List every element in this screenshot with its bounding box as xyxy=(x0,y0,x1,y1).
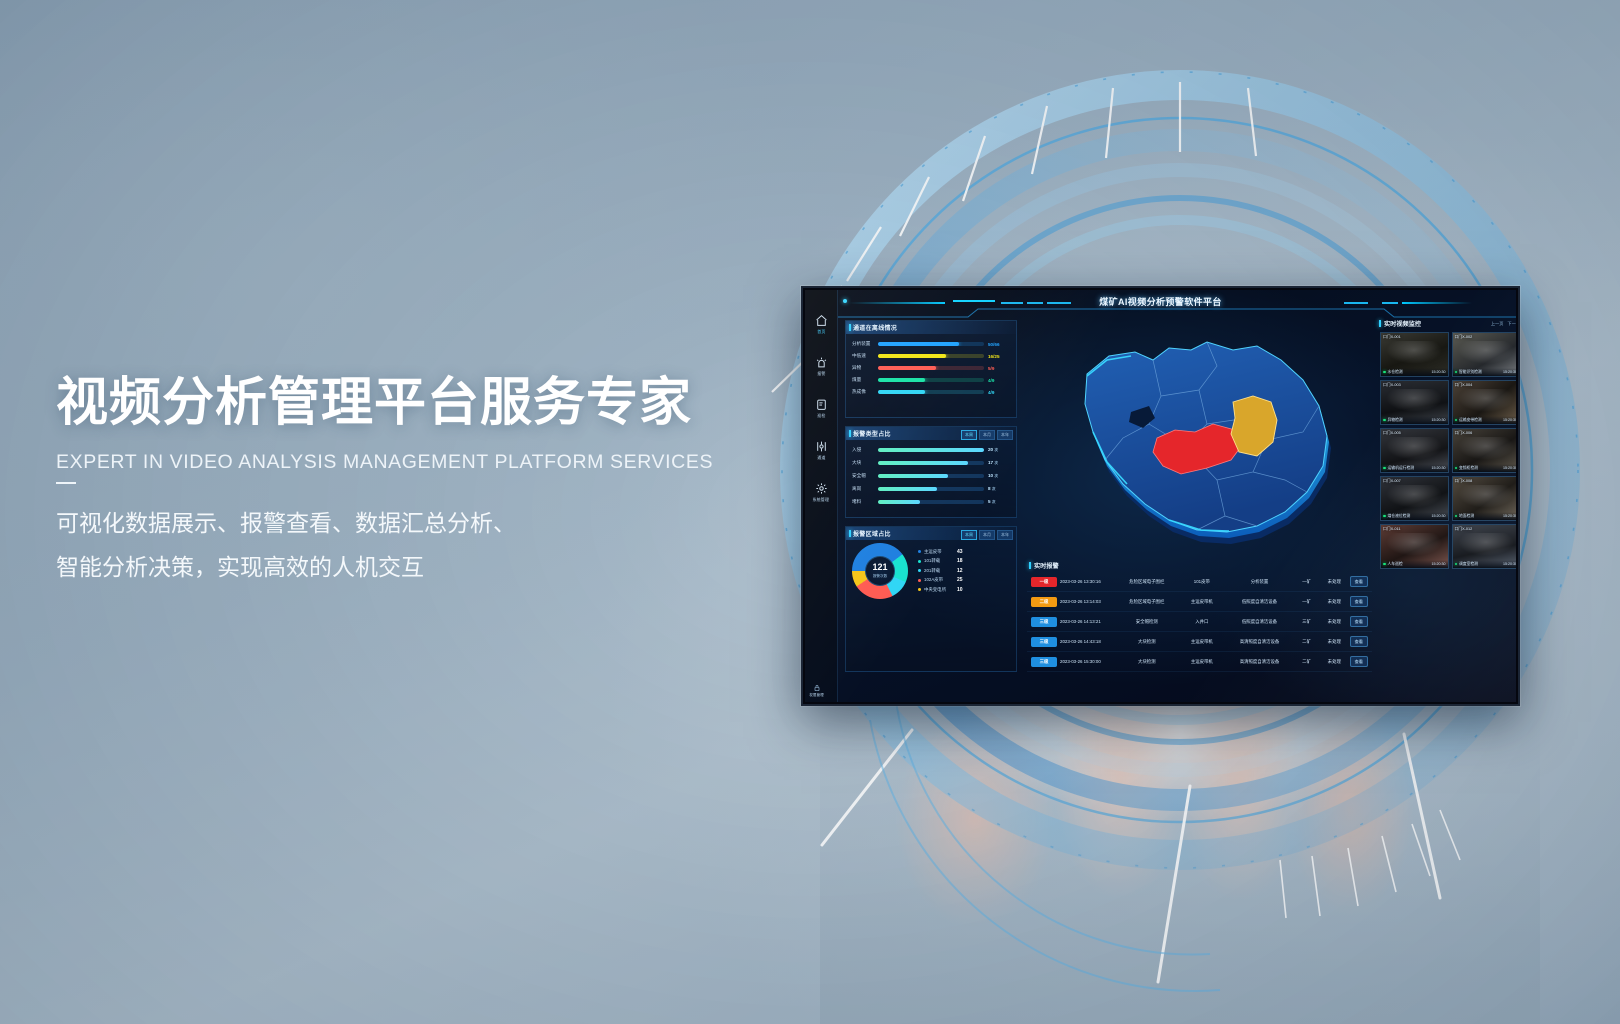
alarm-type-row-value: 5 次 xyxy=(988,499,1010,505)
alarm-type-row-label: 堵料 xyxy=(852,499,874,505)
alarm-mine: 三矿 xyxy=(1294,619,1319,625)
legend-label: 主运皮带 xyxy=(924,549,954,555)
sidebar-item-system-label: 系统管理 xyxy=(813,497,830,503)
alarm-type-row-label: 大块 xyxy=(852,460,874,466)
header-dash-3 xyxy=(1027,302,1043,304)
video-footer: 调度室检测15:20:30 xyxy=(1453,560,1517,568)
alarm-mine: 二矿 xyxy=(1294,639,1319,645)
status-badge: 三级 xyxy=(1031,637,1057,647)
alarm-area-donut-chart: 121 报警次数 xyxy=(852,543,908,599)
live-video-panel: 实时视频监控 上一页 下一页 口门X-001水仓检测15:20:30口门X-00… xyxy=(1377,316,1516,702)
alarm-type-row-fill xyxy=(878,461,968,465)
donut-legend-item: 101转载18 xyxy=(918,557,1012,567)
alarm-type-row: 堵料5 次 xyxy=(846,495,1016,508)
video-tag: 异物检测 xyxy=(1383,418,1403,423)
alarm-type: 危险区域电子围栏 xyxy=(1118,599,1176,605)
gear-icon xyxy=(815,482,828,495)
donut-center-value: 121 xyxy=(872,563,887,572)
video-feed-glow xyxy=(1386,341,1442,364)
alarm-location: 主运皮带机 xyxy=(1179,659,1225,665)
sidebar-footer-label: 权限管理 xyxy=(809,693,823,698)
live-video-header: 实时视频监控 上一页 下一页 xyxy=(1377,316,1516,331)
status-dot-icon xyxy=(1455,419,1458,422)
header-dash-1 xyxy=(953,300,995,302)
alarm-mine: 一矿 xyxy=(1294,599,1319,605)
alarm-location: 101皮带 xyxy=(1179,579,1225,585)
header-dash-6 xyxy=(1382,302,1398,304)
alarm-type-row-value: 20 次 xyxy=(988,447,1010,453)
video-tag-label: 水仓检测 xyxy=(1388,370,1403,375)
hero-paragraph-line-1: 可视化数据展示、报警查看、数据汇总分析、 xyxy=(56,501,816,545)
alarm-location: 主运皮带机 xyxy=(1179,599,1225,605)
alarm-time: 2023-03-26 14:13:21 xyxy=(1060,619,1115,624)
camera-id: 口门X-002 xyxy=(1455,335,1473,340)
alarm-type-header: 报警类型占比 本周本月本年 xyxy=(846,427,1016,440)
video-timestamp: 15:20:30 xyxy=(1432,466,1446,470)
video-footer: 人车巡检15:20:30 xyxy=(1381,560,1448,568)
camera-id: 口门X-004 xyxy=(1455,383,1473,388)
realtime-alarm-panel: 实时报警 一级2023-03-26 13:30:16危险区域电子围栏101皮带分… xyxy=(1027,558,1372,676)
video-grid: 口门X-001水仓检测15:20:30口门X-002智能识别检测15:20:30… xyxy=(1380,332,1516,569)
video-footer: 运输皮带检测15:20:30 xyxy=(1453,416,1517,424)
status-dot-icon xyxy=(1383,419,1386,422)
view-button[interactable]: 查看 xyxy=(1350,616,1368,627)
channel-row-value: 4/9 xyxy=(988,378,1010,383)
video-footer: 变频柜检测15:20:30 xyxy=(1453,464,1517,472)
alarm-status: 未处理 xyxy=(1322,579,1347,585)
video-tag-label: 地面检测 xyxy=(1459,514,1474,519)
view-button[interactable]: 查看 xyxy=(1350,576,1368,587)
video-timestamp: 15:20:30 xyxy=(1432,562,1446,566)
camera-id: 口门X-006 xyxy=(1455,431,1473,436)
home-icon xyxy=(815,314,828,327)
alarm-type-row: 大块17 次 xyxy=(846,456,1016,469)
sidebar-item-inspection-label: 巡检 xyxy=(817,413,825,419)
alarm-device: 分析装置 xyxy=(1228,579,1292,585)
channel-row-value: 4/9 xyxy=(988,390,1010,395)
video-feed-glow xyxy=(1386,533,1442,556)
alarm-location: 主运皮带机 xyxy=(1179,639,1225,645)
hero-paragraph-line-2: 智能分析决策，实现高效的人机交互 xyxy=(56,545,816,589)
video-feed-glow xyxy=(1386,437,1442,460)
alarm-type: 安全帽检测 xyxy=(1118,619,1176,625)
legend-value: 25 xyxy=(957,577,963,583)
channel-row-fill xyxy=(878,378,925,382)
alarm-type: 危险区域电子围栏 xyxy=(1118,579,1176,585)
channel-row-value: 50/66 xyxy=(988,342,1010,347)
video-timestamp: 15:20:30 xyxy=(1503,562,1516,566)
alarm-type-row-label: 入侵 xyxy=(852,447,874,453)
alarm-type-rows: 入侵20 次大块17 次安全帽10 次离岗8 次堵料5 次 xyxy=(846,440,1016,508)
video-feed-glow xyxy=(1458,533,1514,556)
status-badge: 三级 xyxy=(1031,617,1057,627)
video-timestamp: 15:20:30 xyxy=(1503,418,1516,422)
alarm-device: 高清照度自清洁设备 xyxy=(1228,659,1292,665)
donut-legend-item: 主运皮带43 xyxy=(918,547,1012,557)
status-badge: 二级 xyxy=(1031,597,1057,607)
period-tab[interactable]: 本周 xyxy=(961,430,977,440)
alarm-area-period-tabs[interactable]: 本周本月本年 xyxy=(961,530,1013,540)
legend-value: 43 xyxy=(957,549,963,555)
header-line-left xyxy=(849,302,945,304)
alarm-type: 大块检测 xyxy=(1118,639,1176,645)
map-svg xyxy=(1057,320,1357,560)
channel-row-track xyxy=(878,390,984,394)
dashboard-title: 煤矿AI视频分析预警软件平台 xyxy=(1099,295,1222,308)
status-dot-icon xyxy=(1455,467,1458,470)
donut-legend: 主运皮带43101转载18201转载12102A皮带25中央变电所10 xyxy=(918,547,1012,595)
video-feed-glow xyxy=(1458,389,1514,412)
dashboard-screen: 煤矿AI视频分析预警软件平台 首页 报警 xyxy=(805,290,1516,702)
status-dot-icon xyxy=(1383,563,1386,566)
legend-label: 中央变电所 xyxy=(924,587,954,593)
alarm-time: 2023-03-26 13:30:16 xyxy=(1060,579,1115,584)
video-footer: 智能识别检测15:20:30 xyxy=(1453,368,1517,376)
divider-rule xyxy=(56,482,76,484)
video-cell[interactable]: 口门X-012调度室检测15:20:30 xyxy=(1452,524,1517,569)
view-button[interactable]: 查看 xyxy=(1350,636,1368,647)
camera-id: 口门X-007 xyxy=(1383,479,1401,484)
video-cell[interactable]: 口门X-004运输皮带检测15:20:30 xyxy=(1452,380,1517,425)
realtime-alarm-title: 实时报警 xyxy=(1034,561,1059,570)
legend-color-dot xyxy=(918,569,921,572)
alarm-time: 2023-03-26 15:30:00 xyxy=(1060,659,1115,664)
legend-color-dot xyxy=(918,550,921,553)
table-row[interactable]: 三级2023-03-26 14:13:21安全帽检测入井口低照度自清洁设备三矿未… xyxy=(1027,612,1372,632)
video-timestamp: 15:20:30 xyxy=(1503,514,1516,518)
video-timestamp: 15:20:30 xyxy=(1432,418,1446,422)
video-timestamp: 15:20:30 xyxy=(1503,370,1516,374)
sidebar-item-channel[interactable]: 通道 xyxy=(815,440,828,461)
channel-row-track xyxy=(878,366,984,370)
video-tag-label: 变频柜检测 xyxy=(1459,466,1478,471)
table-row[interactable]: 三级2023-03-26 15:30:00大块检测主运皮带机高清照度自清洁设备二… xyxy=(1027,652,1372,672)
alarm-type-row-value: 10 次 xyxy=(988,473,1010,479)
channel-status-row: 异物5/9 xyxy=(846,362,1016,374)
channel-status-title: 通道在离线情况 xyxy=(853,323,897,332)
video-cell[interactable]: 口门X-005运输机运行检测15:20:30 xyxy=(1380,428,1449,473)
status-dot-icon xyxy=(1383,515,1386,518)
alarm-status: 未处理 xyxy=(1322,599,1347,605)
sidebar-item-alarm[interactable]: 报警 xyxy=(815,356,828,377)
view-button[interactable]: 查看 xyxy=(1350,596,1368,607)
video-tag-label: 运输机运行检测 xyxy=(1388,466,1415,471)
alarm-type-row-fill xyxy=(878,474,948,478)
video-feed-glow xyxy=(1386,389,1442,412)
donut-legend-item: 201转载12 xyxy=(918,566,1012,576)
status-dot-icon xyxy=(1383,371,1386,374)
video-cell[interactable]: 口门X-002智能识别检测15:20:30 xyxy=(1452,332,1517,377)
status-dot-icon xyxy=(1455,563,1458,566)
channel-status-rows: 分析装置50/66中低速16/25异物5/9煤量4/9热成像4/9 xyxy=(846,334,1016,398)
province-map[interactable] xyxy=(1057,320,1357,560)
legend-label: 101转载 xyxy=(924,558,954,564)
alarm-device: 低照度自清洁设备 xyxy=(1228,599,1292,605)
realtime-alarm-header: 实时报警 xyxy=(1027,558,1372,572)
channel-row-track xyxy=(878,378,984,382)
view-button[interactable]: 查看 xyxy=(1350,656,1368,667)
alarm-type-row: 离岗8 次 xyxy=(846,482,1016,495)
video-footer: 地面检测15:20:30 xyxy=(1453,512,1517,520)
alarm-time: 2023-03-26 13:14:03 xyxy=(1060,599,1115,604)
hero-paragraph: 可视化数据展示、报警查看、数据汇总分析、 智能分析决策，实现高效的人机交互 xyxy=(56,501,816,589)
page-title: 视频分析管理平台服务专家 xyxy=(56,374,816,432)
legend-color-dot xyxy=(918,560,921,563)
period-tab[interactable]: 本年 xyxy=(997,530,1013,540)
video-tag: 变频柜检测 xyxy=(1455,466,1478,471)
alarm-mine: 二矿 xyxy=(1294,659,1319,665)
channel-row-track xyxy=(878,342,984,346)
table-row[interactable]: 三级2023-03-26 14:43:18大块检测主运皮带机高清照度自清洁设备二… xyxy=(1027,632,1372,652)
video-tag-label: 煤仓液位检测 xyxy=(1388,514,1411,519)
camera-id: 口门X-003 xyxy=(1383,383,1401,388)
channel-status-row: 分析装置50/66 xyxy=(846,338,1016,350)
video-tag-label: 运输皮带检测 xyxy=(1459,418,1482,423)
video-cell[interactable]: 口门X-011人车巡检15:20:30 xyxy=(1380,524,1449,569)
video-tag-label: 智能识别检测 xyxy=(1459,370,1482,375)
donut-center: 121 报警次数 xyxy=(865,556,895,586)
header-dash-4 xyxy=(1047,302,1071,304)
video-cell[interactable]: 口门X-007煤仓液位检测15:20:30 xyxy=(1380,476,1449,521)
channel-row-label: 中低速 xyxy=(852,353,874,359)
video-tag: 煤仓液位检测 xyxy=(1383,514,1410,519)
alarm-type-row: 安全帽10 次 xyxy=(846,469,1016,482)
period-tab[interactable]: 本月 xyxy=(979,430,995,440)
alarm-type-row-track xyxy=(878,500,984,504)
header-line-right xyxy=(1402,302,1472,304)
channel-row-track xyxy=(878,354,984,358)
channel-row-label: 分析装置 xyxy=(852,341,874,347)
dashboard-sidebar[interactable]: 首页 报警 巡检 通道 xyxy=(805,290,838,702)
legend-label: 102A皮带 xyxy=(924,577,954,583)
channel-row-label: 异物 xyxy=(852,365,874,371)
video-footer: 异物检测15:20:30 xyxy=(1381,416,1448,424)
video-feed-glow xyxy=(1458,485,1514,508)
legend-value: 12 xyxy=(957,568,963,574)
sidebar-item-home-label: 首页 xyxy=(817,329,825,335)
video-footer: 水仓检测15:20:30 xyxy=(1381,368,1448,376)
alarm-time: 2023-03-26 14:43:18 xyxy=(1060,639,1115,644)
video-cell[interactable]: 口门X-003异物检测15:20:30 xyxy=(1380,380,1449,425)
video-footer: 煤仓液位检测15:20:30 xyxy=(1381,512,1448,520)
channel-status-header: 通道在离线情况 xyxy=(846,321,1016,334)
legend-value: 18 xyxy=(957,558,963,564)
alarm-status: 未处理 xyxy=(1322,659,1347,665)
sidebar-item-system[interactable]: 系统管理 xyxy=(812,482,830,503)
legend-value: 10 xyxy=(957,587,963,593)
alarm-device: 低照度自清洁设备 xyxy=(1228,619,1292,625)
channel-row-label: 热成像 xyxy=(852,389,874,395)
status-badge: 一级 xyxy=(1031,577,1057,587)
alarm-area-header: 报警区域占比 本周本月本年 xyxy=(846,527,1016,540)
table-row[interactable]: 二级2023-03-26 13:14:03危险区域电子围栏主运皮带机低照度自清洁… xyxy=(1027,592,1372,612)
video-tag: 智能识别检测 xyxy=(1455,370,1482,375)
header-dot xyxy=(843,299,847,303)
channel-row-label: 煤量 xyxy=(852,377,874,383)
lock-icon xyxy=(813,684,821,692)
alarm-area-title: 报警区域占比 xyxy=(853,529,891,538)
video-tag-label: 调度室检测 xyxy=(1459,562,1478,567)
alarm-type-row-track xyxy=(878,448,984,452)
hero-copy: 视频分析管理平台服务专家 EXPERT IN VIDEO ANALYSIS MA… xyxy=(56,374,816,590)
channel-row-value: 16/25 xyxy=(988,354,1010,359)
alarm-type-row-value: 8 次 xyxy=(988,486,1010,492)
legend-color-dot xyxy=(918,579,921,582)
sidebar-footer[interactable]: 权限管理 xyxy=(809,684,824,698)
camera-id: 口门X-005 xyxy=(1383,431,1401,436)
camera-id: 口门X-011 xyxy=(1383,527,1400,532)
camera-id: 口门X-008 xyxy=(1455,479,1473,484)
video-cell[interactable]: 口门X-001水仓检测15:20:30 xyxy=(1380,332,1449,377)
alarm-type-panel: 报警类型占比 本周本月本年 入侵20 次大块17 次安全帽10 次离岗8 次堵料… xyxy=(845,426,1017,518)
alarm-type-period-tabs[interactable]: 本周本月本年 xyxy=(961,430,1013,440)
legend-color-dot xyxy=(918,588,921,591)
video-tag: 水仓检测 xyxy=(1383,370,1403,375)
donut-legend-item: 102A皮带25 xyxy=(918,576,1012,586)
donut-center-label: 报警次数 xyxy=(873,574,887,579)
video-pager[interactable]: 上一页 下一页 xyxy=(1491,321,1516,327)
camera-id: 口门X-001 xyxy=(1383,335,1401,340)
table-row[interactable]: 一级2023-03-26 13:30:16危险区域电子围栏101皮带分析装置一矿… xyxy=(1027,572,1372,592)
channel-status-row: 煤量4/9 xyxy=(846,374,1016,386)
video-timestamp: 15:20:30 xyxy=(1503,466,1516,470)
video-cell[interactable]: 口门X-006变频柜检测15:20:30 xyxy=(1452,428,1517,473)
channel-status-row: 热成像4/9 xyxy=(846,386,1016,398)
header-dash-2 xyxy=(1001,302,1023,304)
period-tab[interactable]: 本年 xyxy=(997,430,1013,440)
sidebar-item-home[interactable]: 首页 xyxy=(815,314,828,335)
alarm-type-title: 报警类型占比 xyxy=(853,429,891,438)
channel-row-value: 5/9 xyxy=(988,366,1010,371)
alarm-icon xyxy=(815,356,828,369)
channel-row-fill xyxy=(878,342,959,346)
realtime-alarm-rows: 一级2023-03-26 13:30:16危险区域电子围栏101皮带分析装置一矿… xyxy=(1027,572,1372,672)
status-dot-icon xyxy=(1455,371,1458,374)
video-footer: 运输机运行检测15:20:30 xyxy=(1381,464,1448,472)
video-tag: 地面检测 xyxy=(1455,514,1475,519)
sidebar-item-inspection[interactable]: 巡检 xyxy=(815,398,828,419)
period-tab[interactable]: 本周 xyxy=(961,530,977,540)
alarm-type-row-label: 离岗 xyxy=(852,486,874,492)
period-tab[interactable]: 本月 xyxy=(979,530,995,540)
alarm-type-row-track xyxy=(878,474,984,478)
alarm-mine: 一矿 xyxy=(1294,579,1319,585)
alarm-type-row-label: 安全帽 xyxy=(852,473,874,479)
sidebar-item-channel-label: 通道 xyxy=(817,455,825,461)
alarm-type-row-track xyxy=(878,461,984,465)
alarm-area-panel: 报警区域占比 本周本月本年 121 报警次数 主运皮带43101转载18201转… xyxy=(845,526,1017,672)
prev-page-button[interactable]: 上一页 xyxy=(1491,321,1504,327)
channel-row-fill xyxy=(878,390,925,394)
alarm-location: 入井口 xyxy=(1179,619,1225,625)
clipboard-icon xyxy=(815,398,828,411)
video-tag-label: 异物检测 xyxy=(1388,418,1403,423)
alarm-status: 未处理 xyxy=(1322,619,1347,625)
alarm-type-row-fill xyxy=(878,487,937,491)
camera-id: 口门X-012 xyxy=(1455,527,1473,532)
dashboard-header: 煤矿AI视频分析预警软件平台 xyxy=(805,290,1516,316)
video-tag: 运输皮带检测 xyxy=(1455,418,1482,423)
alarm-device: 高清照度自清洁设备 xyxy=(1228,639,1292,645)
status-dot-icon xyxy=(1455,515,1458,518)
status-badge: 三级 xyxy=(1031,657,1057,667)
next-page-button[interactable]: 下一页 xyxy=(1507,321,1516,327)
video-timestamp: 15:20:30 xyxy=(1432,370,1446,374)
channel-row-fill xyxy=(878,366,936,370)
monitor-bezel: 煤矿AI视频分析预警软件平台 首页 报警 xyxy=(801,286,1520,706)
hero-subhead: EXPERT IN VIDEO ANALYSIS MANAGEMENT PLAT… xyxy=(56,451,816,474)
channel-status-panel: 通道在离线情况 分析装置50/66中低速16/25异物5/9煤量4/9热成像4/… xyxy=(845,320,1017,418)
video-feed-glow xyxy=(1458,341,1514,364)
sidebar-item-alarm-label: 报警 xyxy=(817,371,825,377)
video-tag-label: 人车巡检 xyxy=(1388,562,1403,567)
donut-legend-item: 中央变电所10 xyxy=(918,585,1012,595)
alarm-status: 未处理 xyxy=(1322,639,1347,645)
alarm-type-row-fill xyxy=(878,500,920,504)
alarm-type-row-track xyxy=(878,487,984,491)
channel-status-row: 中低速16/25 xyxy=(846,350,1016,362)
video-tag: 人车巡检 xyxy=(1383,562,1403,567)
alarm-type-row: 入侵20 次 xyxy=(846,443,1016,456)
alarm-type: 大块检测 xyxy=(1118,659,1176,665)
alarm-type-row-fill xyxy=(878,448,984,452)
video-timestamp: 15:20:30 xyxy=(1432,514,1446,518)
channel-icon xyxy=(815,440,828,453)
alarm-type-row-value: 17 次 xyxy=(988,460,1010,466)
video-cell[interactable]: 口门X-008地面检测15:20:30 xyxy=(1452,476,1517,521)
video-tag: 运输机运行检测 xyxy=(1383,466,1414,471)
video-tag: 调度室检测 xyxy=(1455,562,1478,567)
header-dash-5 xyxy=(1344,302,1368,304)
live-video-title: 实时视频监控 xyxy=(1384,319,1421,328)
video-feed-glow xyxy=(1386,485,1442,508)
video-feed-glow xyxy=(1458,437,1514,460)
channel-row-fill xyxy=(878,354,946,358)
legend-label: 201转载 xyxy=(924,568,954,574)
status-dot-icon xyxy=(1383,467,1386,470)
